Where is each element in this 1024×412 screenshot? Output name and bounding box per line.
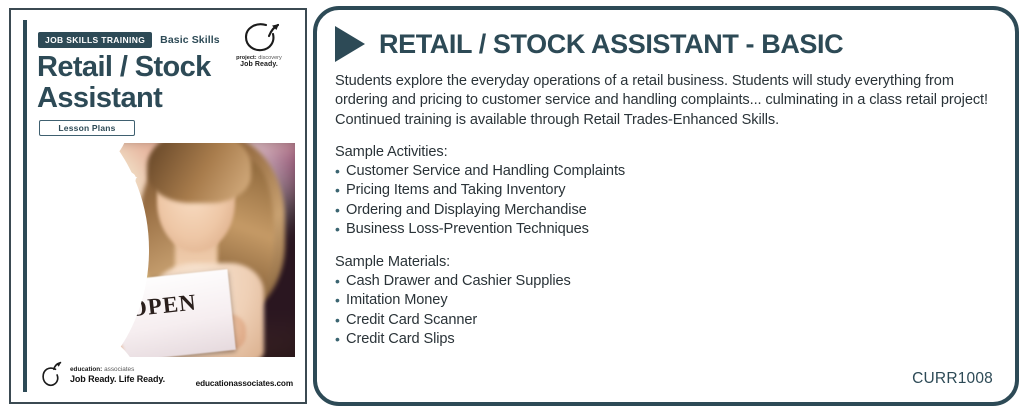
sample-activity-item: Ordering and Displaying Merchandise xyxy=(335,201,997,220)
cover-footer: education: associates Job Ready. Life Re… xyxy=(35,360,295,394)
circle-arrow-icon xyxy=(236,20,282,54)
sample-activity-item: Business Loss-Prevention Techniques xyxy=(335,220,997,239)
spacer-2 xyxy=(335,240,997,253)
ea-word-education: education: xyxy=(70,366,102,373)
cover-content: JOB SKILLS TRAINING Basic Skills Retail … xyxy=(35,10,305,402)
curved-arrow-icon xyxy=(40,147,175,258)
project-discovery-jobready: Job Ready. xyxy=(225,61,293,68)
basic-skills-label: Basic Skills xyxy=(160,34,220,46)
job-skills-training-badge: JOB SKILLS TRAINING xyxy=(38,32,152,48)
education-associates-url[interactable]: educationassociates.com xyxy=(196,379,293,388)
spacer-1 xyxy=(335,130,997,143)
course-description: Students explore the everyday operations… xyxy=(335,72,991,130)
sample-activity-item: Pricing Items and Taking Inventory xyxy=(335,181,997,200)
sample-materials-heading: Sample Materials: xyxy=(335,253,997,272)
sample-activities-heading: Sample Activities: xyxy=(335,143,997,162)
cover-spine-bar xyxy=(23,20,27,392)
course-title: RETAIL / STOCK ASSISTANT - BASIC xyxy=(379,29,843,60)
ea-word-associates: associates xyxy=(102,366,134,373)
course-code: CURR1008 xyxy=(912,370,993,388)
sample-activity-item: Customer Service and Handling Complaints xyxy=(335,162,997,181)
sample-material-item: Cash Drawer and Cashier Supplies xyxy=(335,272,997,291)
course-title-row: RETAIL / STOCK ASSISTANT - BASIC xyxy=(335,26,995,62)
play-triangle-icon xyxy=(335,26,365,62)
retail-worker-photo: OPEN xyxy=(35,143,295,357)
sample-material-item: Credit Card Slips xyxy=(335,330,997,349)
sample-material-item: Imitation Money xyxy=(335,291,997,310)
project-discovery-logo: project: discovery Job Ready. xyxy=(225,20,293,68)
ea-tagline-line1: education: associates xyxy=(70,366,165,373)
education-associates-logo: education: associates Job Ready. Life Re… xyxy=(39,361,165,389)
course-catalog-entry: JOB SKILLS TRAINING Basic Skills Retail … xyxy=(0,0,1024,412)
apple-outline-icon xyxy=(39,361,67,389)
sample-material-item: Credit Card Scanner xyxy=(335,311,997,330)
lesson-plan-cover-card[interactable]: JOB SKILLS TRAINING Basic Skills Retail … xyxy=(9,8,307,404)
cover-kicker-row: JOB SKILLS TRAINING Basic Skills xyxy=(38,32,220,48)
education-associates-text: education: associates Job Ready. Life Re… xyxy=(70,366,165,383)
course-body: Students explore the everyday operations… xyxy=(335,72,997,350)
sample-materials-list: Cash Drawer and Cashier SuppliesImitatio… xyxy=(335,272,997,350)
sample-activities-list: Customer Service and Handling Complaints… xyxy=(335,162,997,240)
ea-tagline-line2: Job Ready. Life Ready. xyxy=(70,374,165,384)
lesson-plans-button[interactable]: Lesson Plans xyxy=(39,120,135,136)
course-detail-panel: RETAIL / STOCK ASSISTANT - BASIC Student… xyxy=(313,6,1019,406)
